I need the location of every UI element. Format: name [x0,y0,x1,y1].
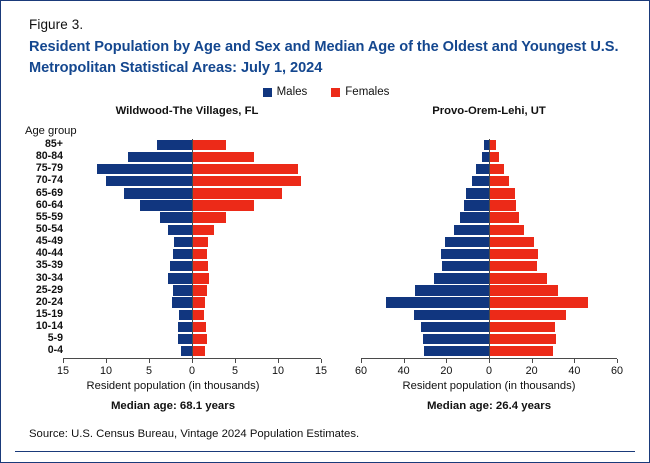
age-group-label-text: 70-74 [15,174,63,186]
zero-axis-line [489,139,490,358]
bars-area-wildwood: 15105051015 [63,139,321,361]
bar-female [192,322,206,332]
bar-female [489,261,537,271]
bar-female [489,212,519,222]
bar-male [140,200,192,210]
bar-male [128,152,193,162]
age-group-label: 15-19 [15,309,63,321]
x-axis-tick-label: 20 [440,365,452,377]
bar-female [489,310,566,320]
x-axis-tick [446,359,447,363]
x-axis-tick [404,359,405,363]
legend-swatch-females-icon [331,88,340,97]
bar-male [178,322,192,332]
bar-male [160,212,192,222]
bar-female [192,261,208,271]
age-group-label: 75-79 [15,163,63,175]
age-group-label: 65-69 [15,188,63,200]
x-axis-tick [149,359,150,363]
age-group-label-text: 60-64 [15,199,63,211]
bar-female [192,310,204,320]
bottom-divider [15,451,635,452]
age-group-label: 70-74 [15,175,63,187]
x-axis-tick-label: 20 [526,365,538,377]
bar-female [489,164,504,174]
bar-male [421,322,489,332]
bar-male [97,164,192,174]
legend-item-females: Females [331,86,389,98]
x-axis-tick [321,359,322,363]
bars-area-provo: 6040200204060 [361,139,617,361]
bar-female [192,237,208,247]
age-group-label-text: 5-9 [15,332,63,344]
bar-female [489,273,547,283]
bar-male [434,273,489,283]
bar-female [192,297,205,307]
x-axis-tick-label: 40 [398,365,410,377]
age-group-label: 25-29 [15,285,63,297]
x-axis-tick-label: 40 [568,365,580,377]
bar-male [423,334,489,344]
legend-swatch-males-icon [263,88,272,97]
age-group-label-text: 30-34 [15,272,63,284]
age-group-label-text: 45-49 [15,235,63,247]
bar-female [489,176,509,186]
bar-male [173,249,192,259]
zero-axis-line [192,139,193,358]
bar-male [106,176,192,186]
x-axis-tick-label: 0 [486,365,492,377]
bar-female [192,140,226,150]
bar-male [179,310,192,320]
age-group-axis-label: Age group [25,125,77,137]
bar-male [173,285,192,295]
age-group-label-text: 50-54 [15,223,63,235]
x-axis-tick-label: 10 [272,365,284,377]
bar-male [442,261,489,271]
x-axis-tick [63,359,64,363]
x-axis-tick-label: 15 [315,365,327,377]
bar-female [192,346,205,356]
bar-female [192,176,301,186]
age-group-label: 0-4 [15,345,63,357]
legend: Males Females [1,86,650,98]
x-axis-tick-label: 60 [611,365,623,377]
bar-female [192,152,254,162]
age-group-tick-labels-wildwood: 85+80-8475-7970-7465-6960-6455-5950-5445… [15,139,63,358]
bar-male [178,334,192,344]
age-group-label-text: 55-59 [15,211,63,223]
age-group-label-text: 35-39 [15,259,63,271]
bar-female [192,188,282,198]
bar-female [489,225,524,235]
bar-male [157,140,192,150]
age-group-label-text: 10-14 [15,320,63,332]
bar-female [489,285,558,295]
figure-container: Figure 3. Resident Population by Age and… [0,0,650,463]
bar-female [192,200,254,210]
bar-male [386,297,489,307]
bar-male [441,249,489,259]
age-group-label: 10-14 [15,321,63,333]
age-group-label: 40-44 [15,248,63,260]
age-group-label: 60-64 [15,200,63,212]
legend-label-females: Females [345,86,389,98]
median-age-annotation: Median age: 68.1 years [15,400,331,412]
chart-title-wildwood: Wildwood-The Villages, FL [15,105,331,117]
source-note: Source: U.S. Census Bureau, Vintage 2024… [29,428,359,440]
bar-female [192,334,207,344]
bar-male [170,261,192,271]
x-axis-caption: Resident population (in thousands) [339,380,639,392]
age-group-label-text: 65-69 [15,187,63,199]
bar-male [415,285,489,295]
bar-male [414,310,489,320]
age-group-label-text: 15-19 [15,308,63,320]
bar-male [168,273,192,283]
bar-female [489,200,516,210]
bar-male [464,200,489,210]
x-axis-tick-label: 10 [100,365,112,377]
x-axis-tick [574,359,575,363]
bar-male [454,225,489,235]
age-group-label-text: 40-44 [15,247,63,259]
legend-item-males: Males [263,86,308,98]
bar-female [192,249,207,259]
age-group-label: 20-24 [15,297,63,309]
age-group-label: 45-49 [15,236,63,248]
median-age-annotation: Median age: 26.4 years [339,400,639,412]
age-group-label: 55-59 [15,212,63,224]
age-group-label: 85+ [15,139,63,151]
bar-male [172,297,192,307]
x-axis-tick-label: 5 [146,365,152,377]
bar-male [472,176,489,186]
age-group-label-text: 20-24 [15,296,63,308]
bar-female [489,152,499,162]
legend-label-males: Males [277,86,308,98]
x-axis-tick-label: 5 [232,365,238,377]
bar-female [489,237,534,247]
x-axis-caption: Resident population (in thousands) [15,380,331,392]
bar-male [460,212,489,222]
x-axis-tick [106,359,107,363]
age-group-label-text: 0-4 [15,344,63,356]
bar-female [489,249,538,259]
chart-title-provo: Provo-Orem-Lehi, UT [339,105,639,117]
age-group-label: 50-54 [15,224,63,236]
age-group-label: 35-39 [15,260,63,272]
bar-male [168,225,192,235]
bar-male [445,237,489,247]
pyramid-plot-wildwood: 85+80-8475-7970-7465-6960-6455-5950-5445… [15,139,331,361]
bar-male [482,152,489,162]
bar-female [192,164,298,174]
bar-male [181,346,192,356]
bar-female [489,334,556,344]
x-axis-tick [489,359,490,363]
age-group-label: 5-9 [15,333,63,345]
age-group-label-text: 75-79 [15,162,63,174]
bar-male [466,188,489,198]
bar-female [192,225,214,235]
x-axis-tick-label: 15 [57,365,69,377]
chart-panel-wildwood: Wildwood-The Villages, FL Age group 85+8… [15,105,331,361]
age-group-label-text: 85+ [15,138,63,150]
bar-female [192,285,207,295]
x-axis-tick [361,359,362,363]
x-axis-tick [235,359,236,363]
bar-male [476,164,489,174]
bar-female [489,297,588,307]
bar-female [192,273,209,283]
x-axis-tick [278,359,279,363]
bar-female [192,212,226,222]
figure-label: Figure 3. [29,17,83,32]
age-group-label-text: 80-84 [15,150,63,162]
x-axis-tick [192,359,193,363]
age-group-label: 30-34 [15,273,63,285]
figure-title: Resident Population by Age and Sex and M… [29,37,629,78]
bar-female [489,346,553,356]
bar-male [174,237,192,247]
bar-male [424,346,489,356]
x-axis-tick [617,359,618,363]
bar-female [489,140,496,150]
x-axis-tick [532,359,533,363]
bar-female [489,322,555,332]
chart-panel-provo: Provo-Orem-Lehi, UT 6040200204060 Reside… [339,105,639,361]
x-axis-tick-label: 0 [189,365,195,377]
x-axis-tick-label: 60 [355,365,367,377]
age-group-label: 80-84 [15,151,63,163]
pyramid-plot-provo: 6040200204060 [339,139,639,361]
bar-female [489,188,515,198]
age-group-label-text: 25-29 [15,284,63,296]
bar-male [124,188,192,198]
